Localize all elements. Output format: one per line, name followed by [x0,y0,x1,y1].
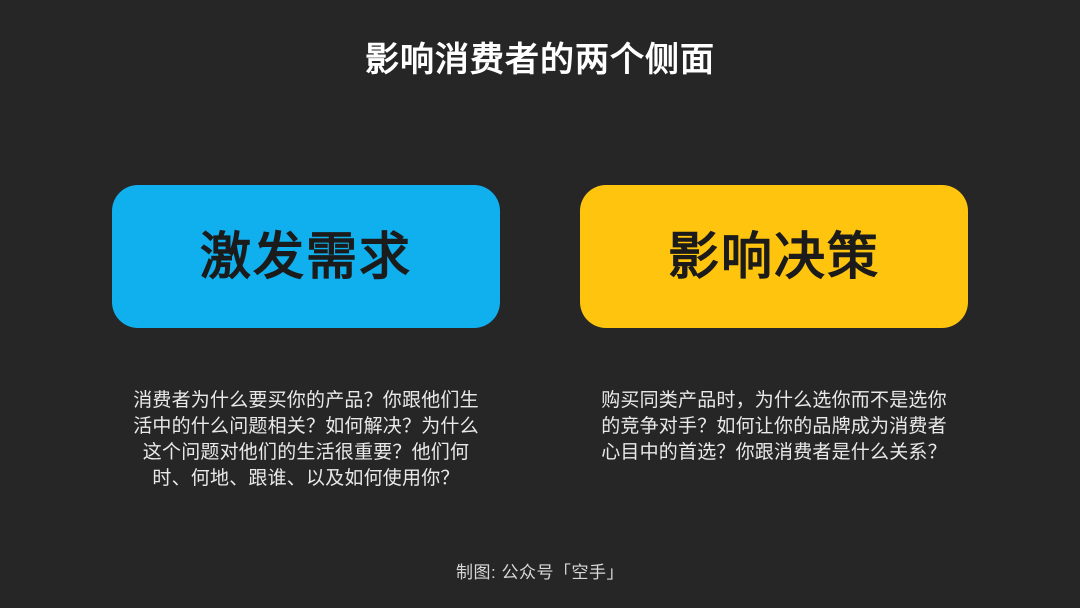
description-influence-decision: 购买同类产品时，为什么选你而不是选你的竞争对手？如何让你的品牌成为消费者心目中的… [596,388,952,466]
column-influence-decision: 影响决策 购买同类产品时，为什么选你而不是选你的竞争对手？如何让你的品牌成为消费… [580,185,968,466]
card-influence-decision[interactable]: 影响决策 [580,185,968,328]
two-column-layout: 激发需求 消费者为什么要买你的产品？你跟他们生活中的什么问题相关？如何解决？为什… [0,185,1080,492]
description-stimulate-demand: 消费者为什么要买你的产品？你跟他们生活中的什么问题相关？如何解决？为什么这个问题… [128,388,484,492]
card-label-stimulate-demand: 激发需求 [200,231,412,282]
column-stimulate-demand: 激发需求 消费者为什么要买你的产品？你跟他们生活中的什么问题相关？如何解决？为什… [112,185,500,492]
page-title: 影响消费者的两个侧面 [0,38,1080,82]
card-label-influence-decision: 影响决策 [668,231,880,282]
credit-line: 制图: 公众号「空手」 [0,562,1080,584]
slide-canvas: 影响消费者的两个侧面 激发需求 消费者为什么要买你的产品？你跟他们生活中的什么问… [0,0,1080,608]
card-stimulate-demand[interactable]: 激发需求 [112,185,500,328]
